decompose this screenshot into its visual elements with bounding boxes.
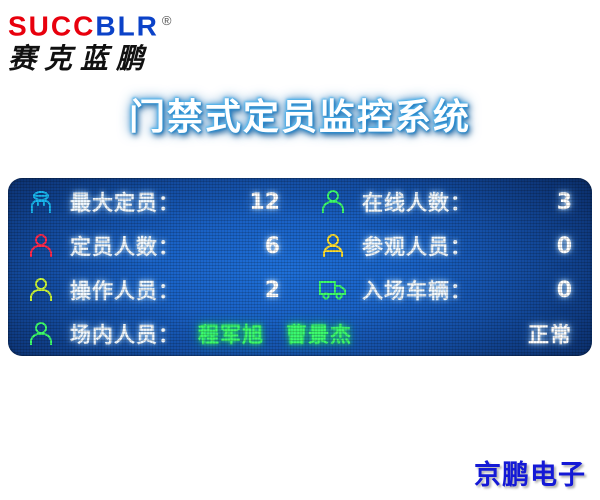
led-value-online-count: 3: [557, 190, 586, 215]
led-display-panel: 最大定员： 12 在线人数： 3: [8, 178, 592, 356]
led-value-quota-count: 6: [265, 234, 294, 259]
led-label-max-capacity: 最大定员：: [70, 187, 180, 217]
logo-chinese-text: 赛克蓝鹏: [8, 42, 238, 76]
led-label-online-count: 在线人数：: [362, 187, 472, 217]
person-icon: [26, 319, 56, 349]
person-operator-icon: [26, 275, 56, 305]
led-row-status: 正常: [300, 312, 592, 356]
led-row-quota-count: 定员人数： 6: [8, 224, 300, 268]
led-label-operator-count: 操作人员：: [70, 275, 180, 305]
led-row-occupants: 场内人员： 程军旭 曹景杰: [8, 312, 300, 356]
registered-trademark-icon: ®: [162, 13, 174, 28]
led-row-visitor-count: 参观人员： 0: [300, 224, 592, 268]
led-row-operator-count: 操作人员： 2: [8, 268, 300, 312]
logo-blr-text: BLR: [95, 10, 159, 41]
led-row-max-capacity: 最大定员： 12: [8, 180, 300, 224]
led-label-occupants: 场内人员：: [70, 319, 180, 349]
company-logo: SUCCBLR® 赛克蓝鹏: [8, 6, 238, 72]
status-badge: 正常: [528, 319, 586, 349]
led-label-vehicle-count: 入场车辆：: [362, 275, 472, 305]
led-value-vehicle-count: 0: [557, 278, 586, 303]
led-row-vehicle-count: 入场车辆： 0: [300, 268, 592, 312]
led-row-online-count: 在线人数： 3: [300, 180, 592, 224]
truck-icon: [318, 275, 348, 305]
page-title: 门禁式定员监控系统: [0, 88, 600, 140]
led-value-operator-count: 2: [265, 278, 294, 303]
person-icon: [318, 187, 348, 217]
logo-succ-text: SUCC: [8, 10, 95, 41]
footer-company-name: 京鹏电子: [474, 453, 586, 492]
person-visitor-icon: [318, 231, 348, 261]
person-cap-icon: [26, 187, 56, 217]
logo-latin-text: SUCCBLR®: [8, 6, 238, 41]
person-alert-icon: [26, 231, 56, 261]
led-label-visitor-count: 参观人员：: [362, 231, 472, 261]
led-value-max-capacity: 12: [249, 190, 294, 215]
led-label-quota-count: 定员人数：: [70, 231, 180, 261]
led-display-grid: 最大定员： 12 在线人数： 3: [8, 178, 592, 356]
led-value-visitor-count: 0: [557, 234, 586, 259]
